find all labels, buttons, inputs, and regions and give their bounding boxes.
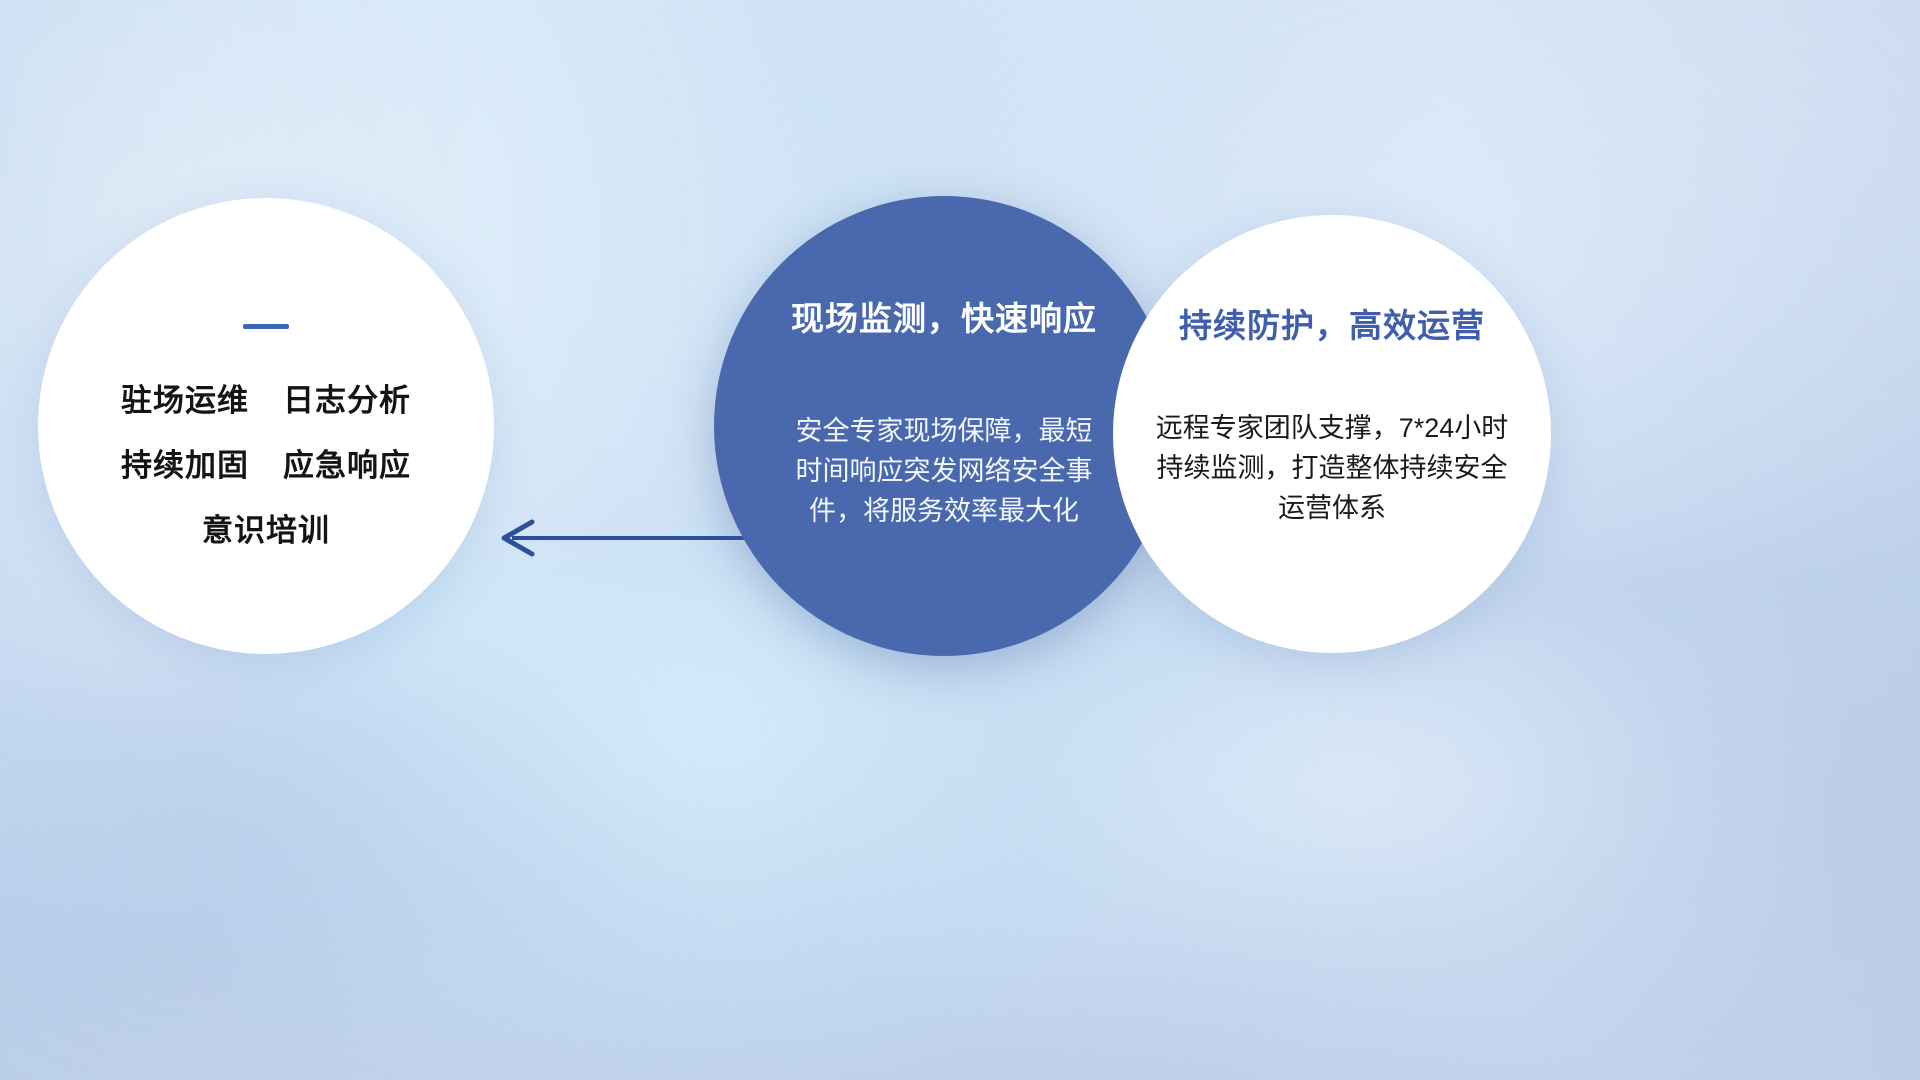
capability-row: 意识培训 [202, 505, 330, 550]
capability-tag: 意识培训 [202, 505, 330, 550]
leftward-arrow-icon [470, 500, 750, 580]
slide-canvas: 驻场运维 日志分析 持续加固 应急响应 意识培训 现场监测，快速响应 安全专家现… [0, 0, 1920, 1080]
continuous-protection-body: 远程专家团队支撑，7*24小时持续监测，打造整体持续安全运营体系 [1146, 409, 1518, 529]
continuous-protection-title: 持续防护，高效运营 [1179, 299, 1485, 347]
capability-tag: 驻场运维 [121, 375, 249, 420]
capability-keyword-list: 驻场运维 日志分析 持续加固 应急响应 意识培训 [121, 375, 411, 550]
on-site-monitoring-body: 安全专家现场保障，最短时间响应突发网络安全事件，将服务效率最大化 [794, 412, 1094, 532]
capability-row: 持续加固 应急响应 [121, 440, 411, 485]
capability-row: 驻场运维 日志分析 [121, 375, 411, 420]
on-site-monitoring-circle[interactable]: 现场监测，快速响应 安全专家现场保障，最短时间响应突发网络安全事件，将服务效率最… [714, 196, 1174, 656]
capability-tag: 持续加固 [121, 440, 249, 485]
accent-dash [243, 324, 289, 329]
capability-tag: 应急响应 [283, 440, 411, 485]
capability-tag: 日志分析 [283, 375, 411, 420]
on-site-monitoring-title: 现场监测，快速响应 [791, 292, 1097, 340]
service-capabilities-circle[interactable]: 驻场运维 日志分析 持续加固 应急响应 意识培训 [38, 198, 494, 654]
continuous-protection-circle[interactable]: 持续防护，高效运营 远程专家团队支撑，7*24小时持续监测，打造整体持续安全运营… [1113, 215, 1551, 653]
